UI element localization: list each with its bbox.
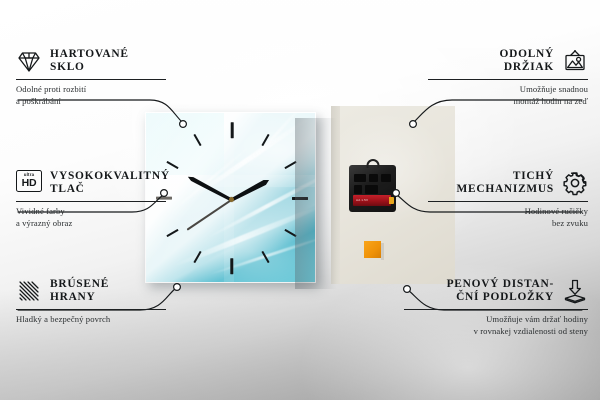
feature-callout-tempered-glass: HARTOVANÉ SKLO Odolné proti rozbití a po… xyxy=(16,48,166,108)
callout-titles: VYSOKOKVALITNÝ TLAČ xyxy=(50,170,170,196)
ultra-hd-badge-icon: ultra HD xyxy=(16,170,42,196)
callout-header: BRÚSENÉ HRANY xyxy=(16,278,166,304)
callout-description-line: Hodinové ručičky xyxy=(428,206,588,218)
callout-divider xyxy=(16,309,166,310)
callout-description-line: bez zvuku xyxy=(428,218,588,230)
press-pad-icon xyxy=(562,278,588,304)
callout-title-line: DRŽIAK xyxy=(504,61,554,74)
callout-description: Umožňuje vám držať hodiny v rovnakej vzd… xyxy=(404,314,588,338)
mechanism-hanger-hook xyxy=(366,159,379,168)
callout-description: Umožňuje snadnou montáž hodin na zeď xyxy=(428,84,588,108)
picture-hanger-icon xyxy=(562,48,588,74)
battery-label: AA 1.5V xyxy=(356,198,368,202)
callout-description-line: montáž hodin na zeď xyxy=(428,96,588,108)
callout-description-line: Hladký a bezpečný povrch xyxy=(16,314,166,326)
callout-description-line: v rovnakej vzdialenosti od steny xyxy=(404,326,588,338)
callout-title-line: HRANY xyxy=(50,291,96,304)
battery-positive-terminal xyxy=(389,197,394,204)
callout-description-line: Odolné proti rozbití xyxy=(16,84,166,96)
callout-divider xyxy=(428,79,588,80)
callout-title-line: TICHÝ xyxy=(513,170,554,183)
diamond-icon xyxy=(16,48,42,74)
foam-spacer-pad xyxy=(364,241,381,258)
hd-label: HD xyxy=(22,178,37,189)
callout-title-line: PENOVÝ DISTAN- xyxy=(447,278,554,291)
callout-header: HARTOVANÉ SKLO xyxy=(16,48,166,74)
callout-title-line: TLAČ xyxy=(50,183,85,196)
clock-center-hub xyxy=(229,197,234,202)
clock-tick xyxy=(230,258,233,274)
callout-divider xyxy=(428,201,588,202)
mechanism-detail xyxy=(365,185,378,194)
mechanism-detail xyxy=(354,185,362,194)
callout-header: TICHÝ MECHANIZMUS xyxy=(428,170,588,196)
callout-description: Vividné farby a výrazný obraz xyxy=(16,206,166,230)
feature-callout-foam-spacers: PENOVÝ DISTAN- ČNÍ PODLOŽKY Umožňuje vám… xyxy=(404,278,588,338)
feature-callout-silent-mechanism: TICHÝ MECHANIZMUS Hodinové ručičky bez z… xyxy=(428,170,588,230)
callout-titles: TICHÝ MECHANIZMUS xyxy=(457,170,554,196)
callout-title-line: ODOLNÝ xyxy=(500,48,555,61)
product-photo: AA 1.5V xyxy=(145,106,455,284)
callout-divider xyxy=(16,201,166,202)
callout-divider xyxy=(16,79,166,80)
callout-header: ultra HD VYSOKOKVALITNÝ TLAČ xyxy=(16,170,166,196)
callout-header: PENOVÝ DISTAN- ČNÍ PODLOŽKY xyxy=(404,278,588,304)
feature-callout-durable-hanger: ODOLNÝ DRŽIAK Umožňuje snadnou montáž ho… xyxy=(428,48,588,108)
callout-divider xyxy=(404,309,588,310)
callout-title-line: ČNÍ PODLOŽKY xyxy=(456,291,554,304)
callout-titles: HARTOVANÉ SKLO xyxy=(50,48,129,74)
callout-titles: BRÚSENÉ HRANY xyxy=(50,278,109,304)
callout-description-line: a poškrábání xyxy=(16,96,166,108)
callout-title-line: VYSOKOKVALITNÝ xyxy=(50,170,170,183)
callout-title-line: MECHANIZMUS xyxy=(457,183,554,196)
feature-callout-beveled-edges: BRÚSENÉ HRANY Hladký a bezpečný povrch xyxy=(16,278,166,326)
clock-tick xyxy=(230,122,233,138)
callout-description-line: a výrazný obraz xyxy=(16,218,166,230)
feature-callout-high-quality-print: ultra HD VYSOKOKVALITNÝ TLAČ Vividné far… xyxy=(16,170,166,230)
beveled-edge-icon xyxy=(16,278,42,304)
mechanism-detail xyxy=(369,174,378,182)
callout-titles: PENOVÝ DISTAN- ČNÍ PODLOŽKY xyxy=(447,278,554,304)
callout-title-line: HARTOVANÉ xyxy=(50,48,129,61)
callout-description: Hodinové ručičky bez zvuku xyxy=(428,206,588,230)
infographic-canvas: AA 1.5V xyxy=(0,0,600,400)
callout-description: Odolné proti rozbití a poškrábání xyxy=(16,84,166,108)
callout-description-line: Umožňuje vám držať hodiny xyxy=(404,314,588,326)
callout-description: Hladký a bezpečný povrch xyxy=(16,314,166,326)
callout-title-line: SKLO xyxy=(50,61,85,74)
glass-clock xyxy=(145,112,316,283)
mechanism-detail xyxy=(381,174,391,182)
mechanism-detail xyxy=(354,174,366,182)
callout-titles: ODOLNÝ DRŽIAK xyxy=(500,48,555,74)
gear-icon xyxy=(562,170,588,196)
clock-tick xyxy=(292,197,308,200)
callout-title-line: BRÚSENÉ xyxy=(50,278,109,291)
callout-header: ODOLNÝ DRŽIAK xyxy=(428,48,588,74)
callout-description-line: Vividné farby xyxy=(16,206,166,218)
clock-mechanism: AA 1.5V xyxy=(349,165,396,212)
callout-description-line: Umožňuje snadnou xyxy=(428,84,588,96)
battery: AA 1.5V xyxy=(353,195,391,206)
